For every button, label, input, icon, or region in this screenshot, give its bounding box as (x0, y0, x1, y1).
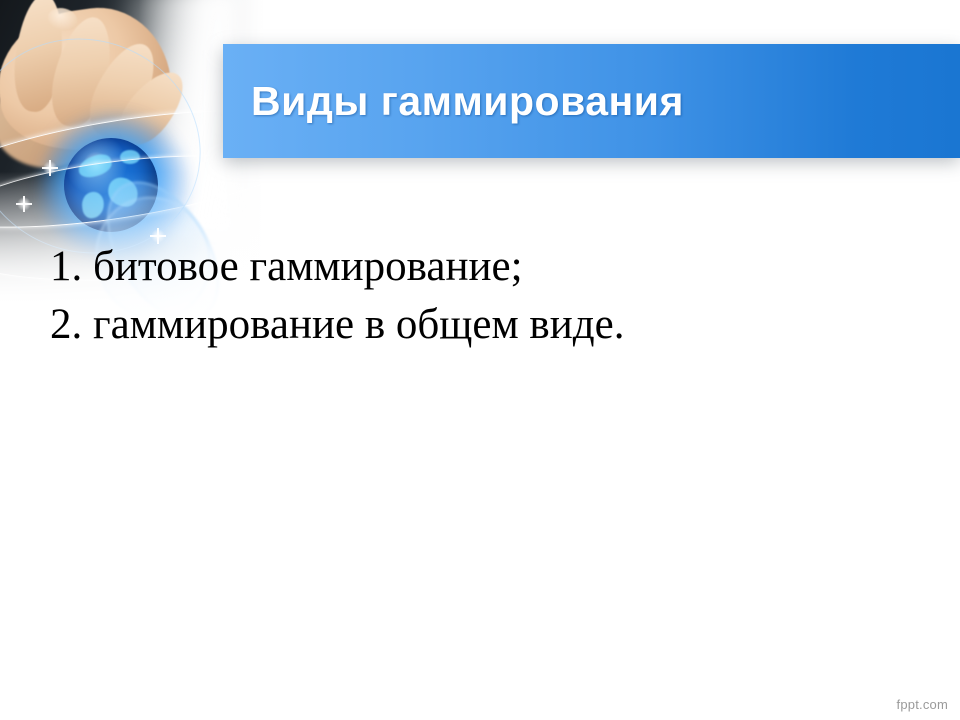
sparkle-icon (16, 196, 32, 212)
hand-icon (0, 0, 194, 178)
watermark: fppt.com (897, 697, 948, 712)
content-list: 1. битовое гаммирование; 2. гаммирование… (50, 238, 910, 354)
hand-finger (10, 0, 68, 114)
page-title: Виды гаммирования (251, 78, 684, 125)
globe-landmass (120, 150, 140, 164)
photo-highlight-slab (118, 0, 238, 240)
globe-landmass (80, 191, 105, 220)
list-item: 1. битовое гаммирование; (50, 238, 910, 296)
globe-icon (64, 138, 158, 232)
globe-landmass (76, 152, 114, 181)
hand-finger (43, 11, 121, 132)
hand-finger (109, 61, 195, 154)
hand-finger (79, 34, 168, 146)
title-banner: Виды гаммирования (223, 44, 960, 158)
list-item: 2. гаммирование в общем виде. (50, 296, 910, 354)
hand-palm (0, 0, 179, 161)
globe-landmass (105, 175, 140, 209)
hand-fingernail (45, 5, 79, 34)
presentation-slide: Виды гаммирования 1. битовое гаммировани… (0, 0, 960, 720)
sparkle-icon (42, 160, 58, 176)
hand-wrist (0, 84, 104, 168)
